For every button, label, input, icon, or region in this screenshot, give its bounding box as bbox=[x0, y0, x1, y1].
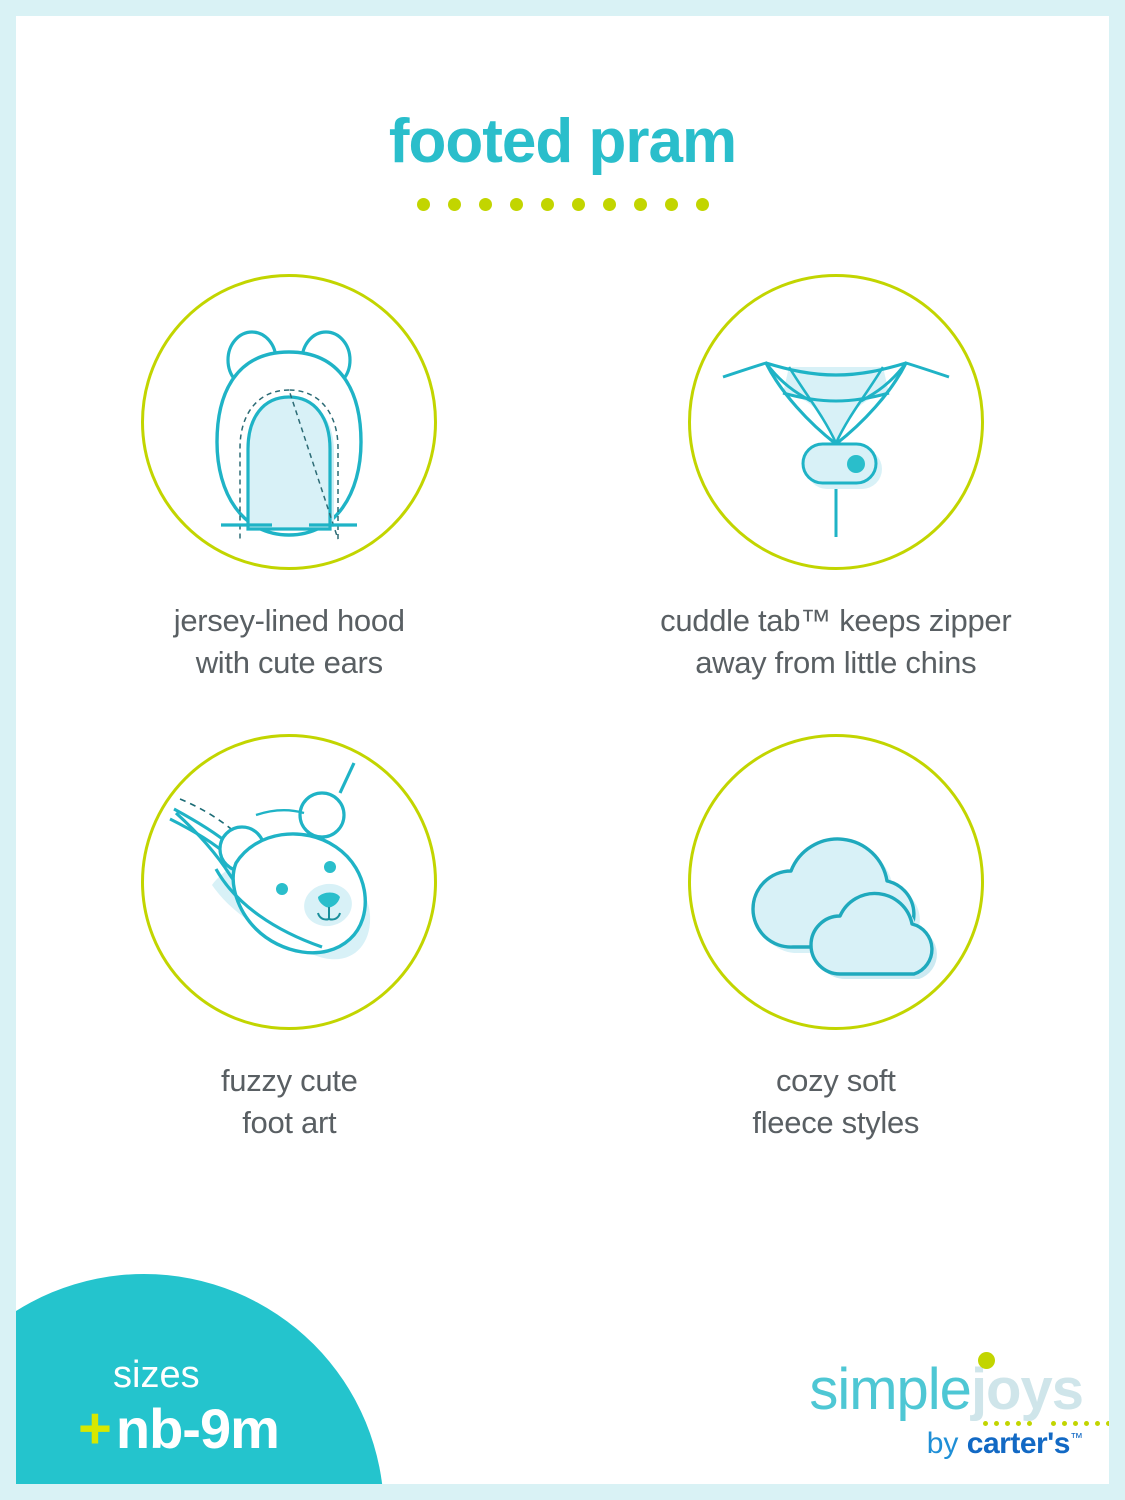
divider-dot bbox=[479, 198, 492, 211]
feature-fleece: cozy soft fleece styles bbox=[563, 734, 1110, 1144]
brand-logo: simplejoys by carter's™ bbox=[783, 1361, 1083, 1459]
feature-icon-circle bbox=[141, 274, 437, 570]
logo-underdots-right bbox=[1051, 1421, 1109, 1426]
infographic-card: footed pram bbox=[16, 16, 1109, 1484]
feature-cuddle-tab: cuddle tab™ keeps zipper away from littl… bbox=[563, 274, 1110, 684]
sizes-value: nb-9m bbox=[116, 1401, 279, 1457]
feature-grid: jersey-lined hood with cute ears bbox=[16, 274, 1109, 1143]
logo-j-dot-icon bbox=[978, 1352, 995, 1369]
logo-underdot bbox=[1062, 1421, 1067, 1426]
logo-simple-text: simple bbox=[809, 1357, 971, 1422]
feature-icon-circle bbox=[688, 734, 984, 1030]
logo-underdot bbox=[1051, 1421, 1056, 1426]
divider-dot bbox=[603, 198, 616, 211]
logo-tm-symbol: ™ bbox=[1070, 1430, 1083, 1445]
divider-dot bbox=[696, 198, 709, 211]
divider-dot bbox=[510, 198, 523, 211]
logo-underdot bbox=[1106, 1421, 1109, 1426]
feature-row-2: fuzzy cute foot art bbox=[16, 734, 1109, 1144]
feature-foot-art: fuzzy cute foot art bbox=[16, 734, 563, 1144]
logo-underdot bbox=[1095, 1421, 1100, 1426]
logo-underdot bbox=[1016, 1421, 1021, 1426]
feature-icon-circle bbox=[688, 274, 984, 570]
logo-wordmark: simplejoys bbox=[783, 1361, 1083, 1419]
feature-caption: cuddle tab™ keeps zipper away from littl… bbox=[660, 600, 1011, 684]
logo-underdots-left bbox=[983, 1421, 1032, 1426]
logo-underdot bbox=[1084, 1421, 1089, 1426]
feature-caption: cozy soft fleece styles bbox=[752, 1060, 919, 1144]
title-dot-divider bbox=[16, 198, 1109, 211]
divider-dot bbox=[572, 198, 585, 211]
infographic-page: footed pram bbox=[0, 0, 1125, 1500]
sizes-value-line: + nb-9m bbox=[78, 1400, 378, 1458]
logo-sub-wordmark: by carter's™ bbox=[783, 1429, 1083, 1459]
cuddle-tab-neckline-icon bbox=[711, 297, 961, 547]
sizes-badge: sizes + nb-9m bbox=[78, 1356, 378, 1458]
divider-dot bbox=[448, 198, 461, 211]
bear-foot-art-icon bbox=[164, 757, 414, 1007]
logo-underdot bbox=[1005, 1421, 1010, 1426]
divider-dot bbox=[417, 198, 430, 211]
bear-hood-icon bbox=[164, 297, 414, 547]
feature-hood: jersey-lined hood with cute ears bbox=[16, 274, 563, 684]
sizes-label: sizes bbox=[113, 1356, 378, 1394]
logo-carters-text: carter's bbox=[967, 1427, 1070, 1460]
divider-dot bbox=[634, 198, 647, 211]
divider-dot bbox=[665, 198, 678, 211]
divider-dot bbox=[541, 198, 554, 211]
logo-underdot bbox=[1027, 1421, 1032, 1426]
feature-row-1: jersey-lined hood with cute ears bbox=[16, 274, 1109, 684]
sizes-plus-symbol: + bbox=[78, 1400, 112, 1458]
page-title: footed pram bbox=[16, 108, 1109, 176]
logo-by-text: by bbox=[927, 1427, 967, 1460]
clouds-icon bbox=[711, 757, 961, 1007]
logo-underdot bbox=[1073, 1421, 1078, 1426]
logo-underdot bbox=[983, 1421, 988, 1426]
logo-underdot bbox=[994, 1421, 999, 1426]
feature-caption: jersey-lined hood with cute ears bbox=[174, 600, 405, 684]
logo-joys-wrap: joys bbox=[971, 1361, 1083, 1419]
feature-caption: fuzzy cute foot art bbox=[221, 1060, 358, 1144]
feature-icon-circle bbox=[141, 734, 437, 1030]
